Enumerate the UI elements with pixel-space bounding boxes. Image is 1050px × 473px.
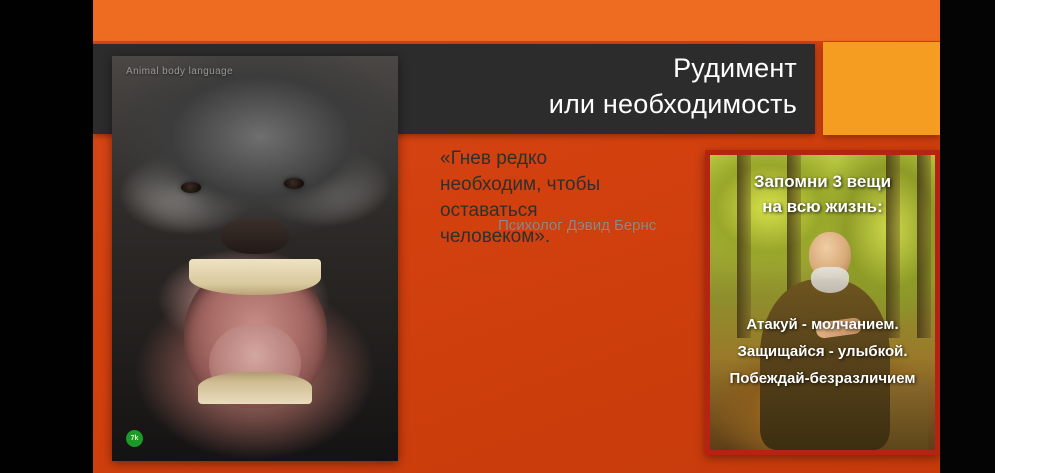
- gorilla-upper-teeth: [189, 259, 321, 295]
- gorilla-photo: Animal body language 7k: [112, 56, 398, 461]
- monk-photo-line: Побеждай-безразличием: [710, 365, 935, 392]
- page-title: Рудимент или необходимость: [377, 50, 797, 122]
- letterbox-left: [0, 0, 93, 473]
- gorilla-lower-teeth: [198, 372, 312, 404]
- gorilla-eye-left: [181, 182, 201, 193]
- photo-badge-icon: 7k: [126, 430, 143, 447]
- slide-top-band: [93, 0, 940, 41]
- letterbox-right: [940, 0, 995, 473]
- presentation-slide: Рудимент или необходимость Animal body l…: [93, 0, 940, 473]
- monk-photo-heading: Запомни 3 вещи на всю жизнь:: [710, 169, 935, 219]
- quote-author: Психолог Дэвид Бернс: [498, 217, 656, 234]
- document-page-right-margin: [995, 0, 1050, 473]
- screenshot-stage: Рудимент или необходимость Animal body l…: [0, 0, 1050, 473]
- gorilla-eye-right: [284, 178, 304, 189]
- monk-photo-lines: Атакуй - молчанием. Защищайся - улыбкой.…: [710, 311, 935, 392]
- quote-text: «Гнев редко необходим, чтобы оставаться …: [440, 146, 645, 250]
- quote-block: «Гнев редко необходим, чтобы оставаться …: [440, 146, 645, 250]
- gorilla-nose: [221, 218, 290, 254]
- monk-photo: Запомни 3 вещи на всю жизнь: Атакуй - мо…: [705, 150, 940, 455]
- monk-photo-line: Атакуй - молчанием.: [710, 311, 935, 338]
- monk-photo-line: Защищайся - улыбкой.: [710, 338, 935, 365]
- accent-card: [823, 42, 940, 135]
- photo-watermark: Animal body language: [126, 66, 233, 77]
